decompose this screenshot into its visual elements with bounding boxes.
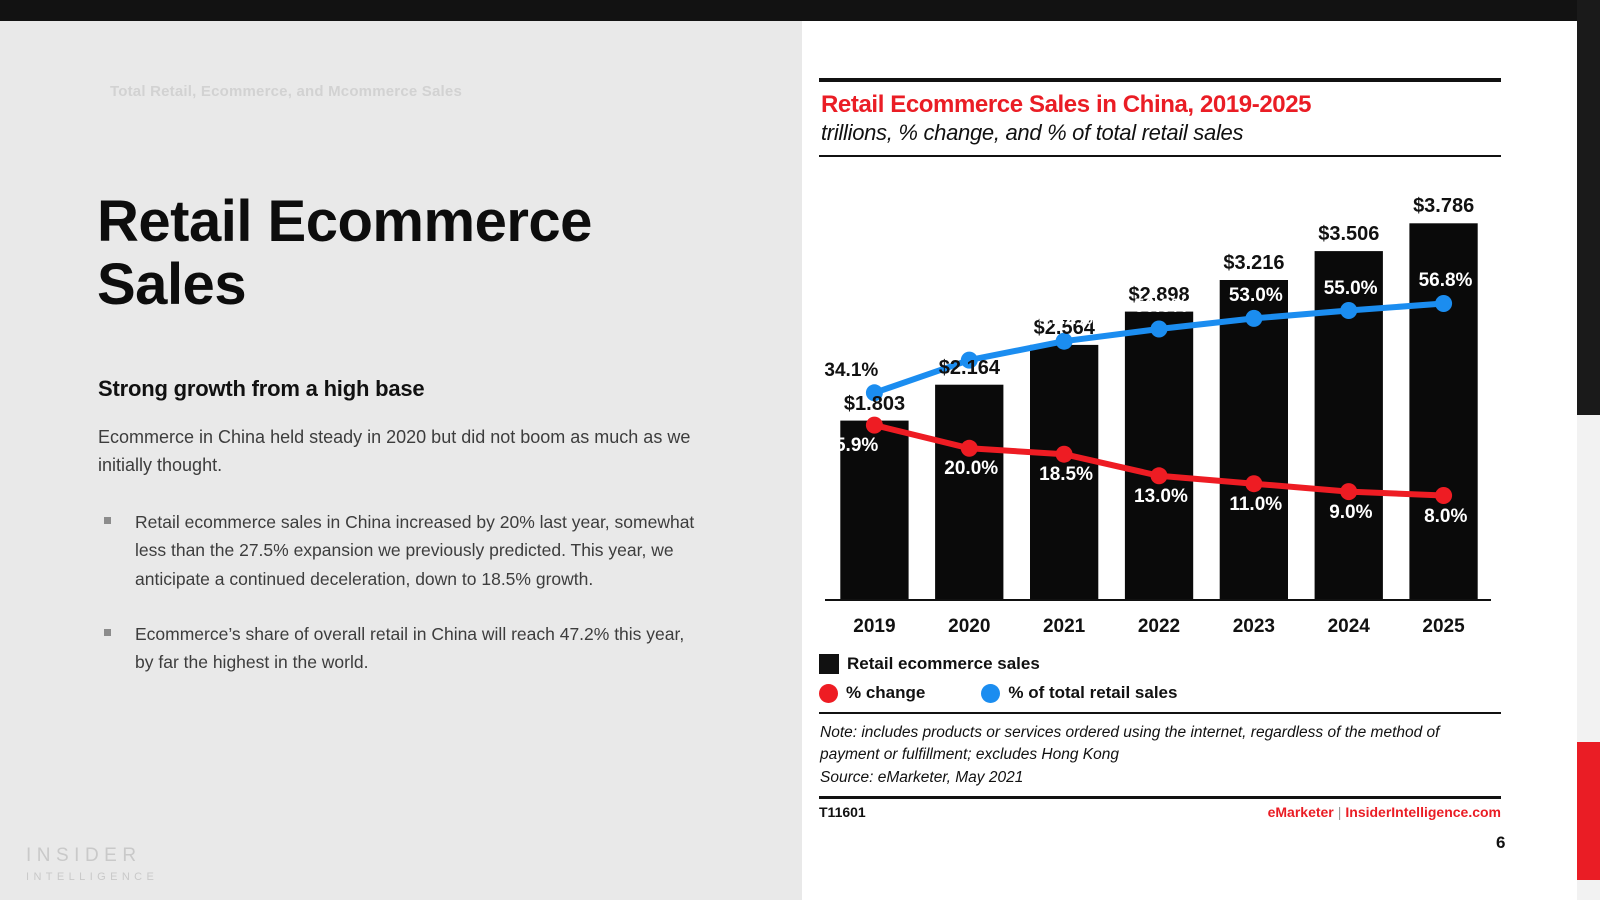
- pct-change-marker: [961, 440, 978, 457]
- divider-top: [819, 78, 1501, 82]
- pct-change-marker: [1056, 446, 1073, 463]
- section-subheading: Strong growth from a high base: [98, 376, 738, 402]
- bullet-list: Retail ecommerce sales in China increase…: [98, 508, 698, 704]
- chart-note: Note: includes products or services orde…: [820, 722, 1501, 789]
- brand-separator: |: [1338, 804, 1342, 820]
- pct-total-marker: [1435, 295, 1452, 312]
- x-axis-tick-label: 2025: [1396, 616, 1491, 638]
- pct-change-marker: [1435, 487, 1452, 504]
- divider-under-title: [819, 155, 1501, 157]
- pct-change-label: 11.0%: [1229, 494, 1282, 516]
- pct-total-label: 53.0%: [1229, 285, 1283, 307]
- pct-change-marker: [1151, 467, 1168, 484]
- list-item: Ecommerce’s share of overall retail in C…: [98, 620, 698, 677]
- list-item-text: Ecommerce’s share of overall retail in C…: [135, 624, 684, 672]
- chart-legend: Retail ecommerce sales % change % of tot…: [819, 654, 1501, 703]
- page-number: 6: [1496, 833, 1505, 853]
- chart-subtitle: trillions, % change, and % of total reta…: [821, 120, 1501, 146]
- chart-plot-area: $1.803$2.164$2.564$2.898$3.216$3.506$3.7…: [819, 175, 1501, 610]
- pct-total-marker: [1245, 310, 1262, 327]
- x-axis-tick-label: 2019: [827, 616, 922, 638]
- logo-line-2: INTELLIGENCE: [26, 871, 158, 883]
- chart-card: Retail Ecommerce Sales in China, 2019-20…: [819, 78, 1501, 800]
- list-item: Retail ecommerce sales in China increase…: [98, 508, 698, 593]
- pct-change-label: 20.0%: [944, 458, 998, 480]
- left-content-panel: Total Retail, Ecommerce, and Mcommerce S…: [0, 21, 802, 900]
- pct-change-label: 8.0%: [1424, 506, 1467, 528]
- x-axis-tick-label: 2023: [1206, 616, 1301, 638]
- legend-label: % of total retail sales: [1008, 683, 1177, 703]
- chart-footer: T11601 eMarketer|InsiderIntelligence.com: [819, 804, 1501, 820]
- right-accent-dark-block: [1577, 0, 1600, 415]
- bar-value-label: $3.786: [1413, 195, 1474, 218]
- chart-svg: [819, 175, 1501, 610]
- brand-insiderintelligence[interactable]: InsiderIntelligence.com: [1345, 804, 1501, 820]
- eyebrow-label: Total Retail, Ecommerce, and Mcommerce S…: [110, 83, 462, 100]
- x-axis-tick-label: 2021: [1017, 616, 1112, 638]
- pct-change-label: 9.0%: [1329, 502, 1372, 524]
- bullet-square-icon: [104, 517, 111, 524]
- bar-value-label: $3.216: [1223, 252, 1284, 275]
- top-accent-bar: [0, 0, 1600, 21]
- pct-total-label: 55.0%: [1324, 278, 1378, 300]
- note-text: Note: includes products or services orde…: [820, 722, 1501, 767]
- legend-item-pct-change[interactable]: % change: [819, 683, 925, 703]
- pct-total-label: 34.1%: [824, 360, 878, 382]
- pct-change-label: 18.5%: [1039, 464, 1093, 486]
- bar-value-label: $3.506: [1318, 223, 1379, 246]
- legend-label: Retail ecommerce sales: [847, 654, 1040, 674]
- legend-row-1: Retail ecommerce sales: [819, 654, 1501, 674]
- right-accent-column: [1577, 0, 1600, 900]
- pct-total-marker: [1340, 302, 1357, 319]
- bar-value-label: $2.164: [939, 357, 1000, 380]
- page-title: Retail Ecommerce Sales: [97, 191, 737, 316]
- brand-attribution: eMarketer|InsiderIntelligence.com: [1268, 804, 1501, 820]
- chart-bar: [1220, 280, 1288, 600]
- logo-line-1: INSIDER: [26, 845, 158, 867]
- legend-blue-dot-icon: [981, 684, 1000, 703]
- x-axis-tick-label: 2024: [1301, 616, 1396, 638]
- table-code: T11601: [819, 804, 866, 820]
- legend-square-icon: [819, 654, 839, 674]
- insider-intelligence-logo: INSIDER INTELLIGENCE: [26, 845, 158, 883]
- list-item-text: Retail ecommerce sales in China increase…: [135, 512, 694, 589]
- x-axis-tick-label: 2022: [1112, 616, 1207, 638]
- pct-total-label: 42.4%: [944, 327, 998, 349]
- brand-emarketer: eMarketer: [1268, 804, 1334, 820]
- chart-bar: [935, 385, 1003, 600]
- slide: Total Retail, Ecommerce, and Mcommerce S…: [0, 0, 1600, 900]
- bar-value-label: $1.803: [844, 393, 905, 416]
- legend-item-bars[interactable]: Retail ecommerce sales: [819, 654, 1040, 674]
- divider-above-notes: [819, 712, 1501, 714]
- right-accent-red-block: [1577, 742, 1600, 880]
- legend-red-dot-icon: [819, 684, 838, 703]
- pct-change-marker: [866, 417, 883, 434]
- chart-title: Retail Ecommerce Sales in China, 2019-20…: [821, 91, 1501, 119]
- source-text: Source: eMarketer, May 2021: [820, 767, 1501, 789]
- x-axis-tick-label: 2020: [922, 616, 1017, 638]
- legend-row-2: % change % of total retail sales: [819, 683, 1501, 703]
- pct-total-marker: [1151, 321, 1168, 338]
- pct-total-label: 47.2%: [1039, 308, 1093, 330]
- pct-total-label: 56.8%: [1419, 270, 1473, 292]
- divider-above-footer: [819, 796, 1501, 799]
- lede-paragraph: Ecommerce in China held steady in 2020 b…: [98, 424, 698, 480]
- pct-change-marker: [1245, 475, 1262, 492]
- legend-label: % change: [846, 683, 925, 703]
- pct-change-label: 13.0%: [1134, 486, 1188, 508]
- chart-bar: [1125, 312, 1193, 600]
- pct-change-label: 25.9%: [824, 435, 878, 457]
- bullet-square-icon: [104, 629, 111, 636]
- pct-total-label: 50.3%: [1134, 296, 1188, 318]
- pct-change-marker: [1340, 483, 1357, 500]
- chart-x-axis: 2019202020212022202320242025: [819, 610, 1501, 644]
- legend-item-pct-total[interactable]: % of total retail sales: [981, 683, 1177, 703]
